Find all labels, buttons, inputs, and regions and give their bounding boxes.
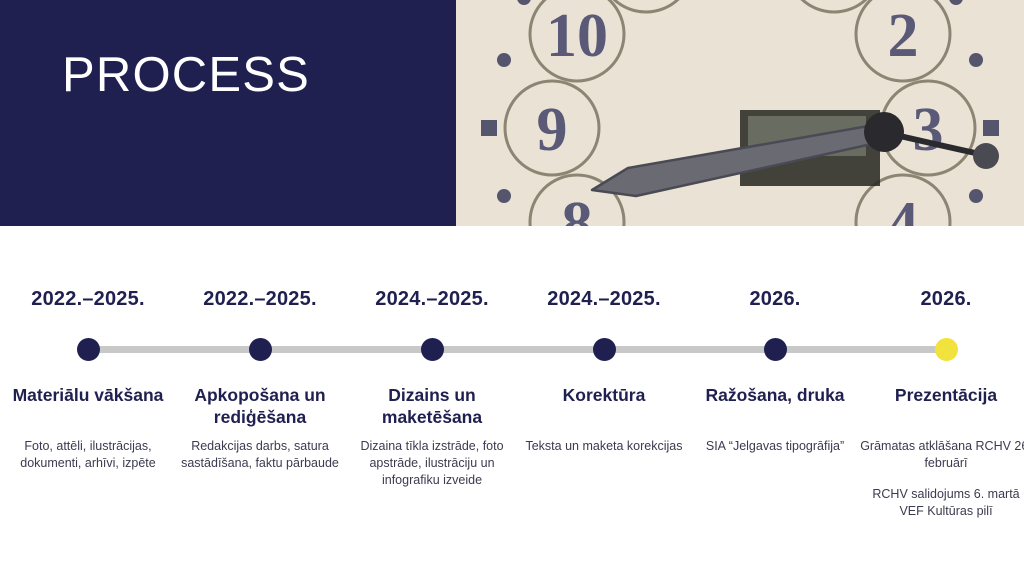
step-dot[interactable] xyxy=(764,338,787,361)
step-body-paragraph: Grāmatas atklāšana RCHV 26. februārī xyxy=(860,438,1024,472)
step-dot[interactable] xyxy=(593,338,616,361)
step-body-paragraph: Redakcijas darbs, satura sastādīšana, fa… xyxy=(174,438,346,472)
step-heading: Apkopošana un rediģēšana xyxy=(176,384,344,428)
svg-text:10: 10 xyxy=(546,2,608,70)
title-panel: PROCESS xyxy=(0,0,456,226)
step-year: 2022.–2025. xyxy=(174,288,346,311)
header-photo: 12 1 2 3 4 5 6 7 8 9 10 11 xyxy=(455,0,1024,226)
svg-text:11: 11 xyxy=(616,0,675,1)
step-dot[interactable] xyxy=(249,338,272,361)
step-body-paragraph: SIA “Jelgavas tipogrāfija” xyxy=(689,438,861,455)
step-heading: Materiālu vākšana xyxy=(4,384,172,406)
step-year: 2024.–2025. xyxy=(346,288,518,311)
step-body: Dizaina tīkla izstrāde, foto apstrāde, i… xyxy=(346,438,518,489)
step-heading: Korektūra xyxy=(520,384,688,406)
step-heading: Ražošana, druka xyxy=(691,384,859,406)
svg-text:3: 3 xyxy=(912,96,943,164)
clock-face-icon: 12 1 2 3 4 5 6 7 8 9 10 11 xyxy=(460,0,1020,226)
step-body: Grāmatas atklāšana RCHV 26. februārī RCH… xyxy=(860,438,1024,520)
step-heading: Prezentācija xyxy=(862,384,1024,406)
svg-text:8: 8 xyxy=(561,190,592,226)
step-year: 2024.–2025. xyxy=(518,288,690,311)
step-dot[interactable] xyxy=(421,338,444,361)
step-body: Foto, attēli, ilustrācijas, dokumenti, a… xyxy=(2,438,174,472)
timeline-section: 2022.–2025. Materiālu vākšana Foto, attē… xyxy=(0,226,1024,576)
step-dot[interactable] xyxy=(935,338,958,361)
svg-text:2: 2 xyxy=(887,2,918,70)
svg-text:1: 1 xyxy=(818,0,849,1)
svg-text:9: 9 xyxy=(536,96,567,164)
timeline-rail xyxy=(88,346,946,353)
step-body-paragraph: RCHV salidojums 6. martā VEF Kultūras pi… xyxy=(860,486,1024,520)
page-title: PROCESS xyxy=(62,48,310,102)
step-year: 2022.–2025. xyxy=(2,288,174,311)
slide-header: 12 1 2 3 4 5 6 7 8 9 10 11 xyxy=(0,0,1024,226)
step-year: 2026. xyxy=(689,288,861,311)
step-body-paragraph: Dizaina tīkla izstrāde, foto apstrāde, i… xyxy=(346,438,518,489)
step-body-paragraph: Foto, attēli, ilustrācijas, dokumenti, a… xyxy=(2,438,174,472)
svg-text:4: 4 xyxy=(887,190,918,226)
step-year: 2026. xyxy=(860,288,1024,311)
step-body: SIA “Jelgavas tipogrāfija” xyxy=(689,438,861,455)
step-body: Teksta un maketa korekcijas xyxy=(518,438,690,455)
step-dot[interactable] xyxy=(77,338,100,361)
step-body-paragraph: Teksta un maketa korekcijas xyxy=(518,438,690,455)
step-heading: Dizains un maketēšana xyxy=(348,384,516,428)
step-body: Redakcijas darbs, satura sastādīšana, fa… xyxy=(174,438,346,472)
